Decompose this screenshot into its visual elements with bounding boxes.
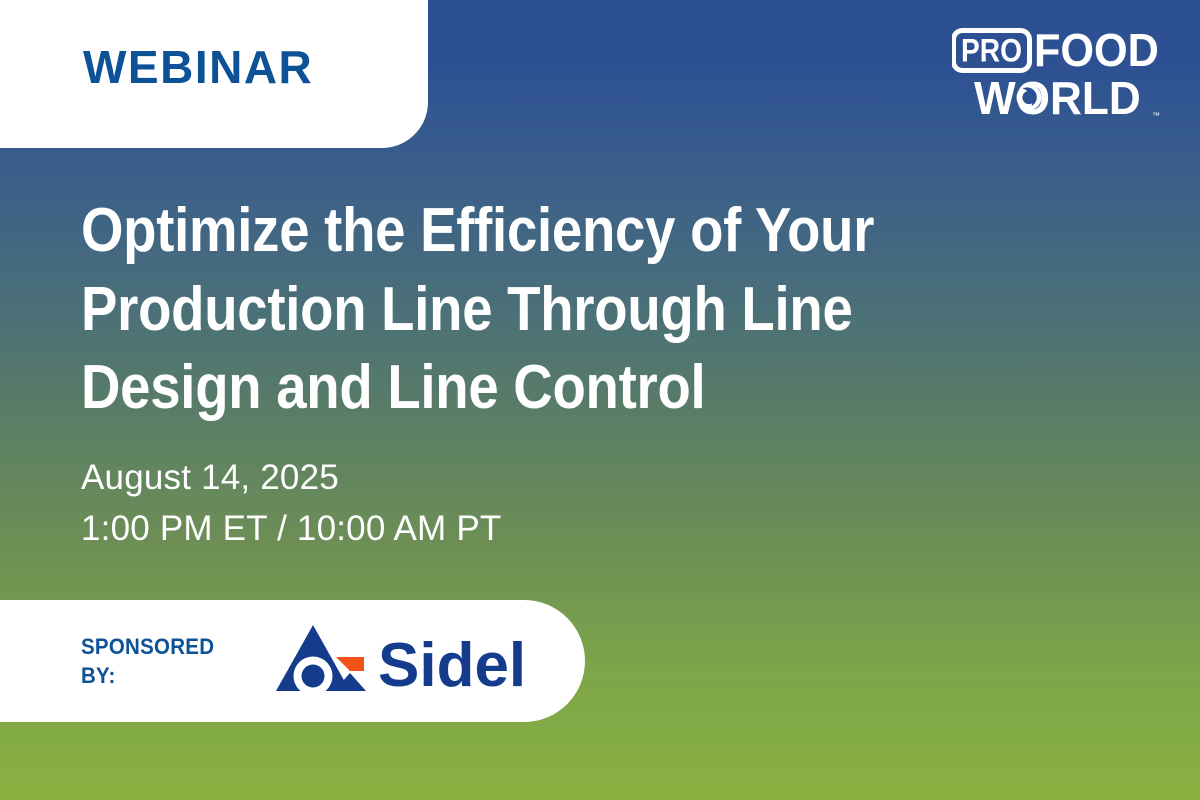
trademark-symbol: ™ xyxy=(1152,111,1160,120)
event-date: August 14, 2025 xyxy=(81,452,501,503)
sponsored-by-label: SPONSORED BY: xyxy=(81,632,214,690)
sidel-triangle-icon xyxy=(276,625,350,696)
sidel-orange-diamond-icon xyxy=(336,657,364,671)
profood-world-logo: PRO FOOD WORLD ™ xyxy=(952,26,1162,122)
webinar-promo-graphic: WEBINAR PRO FOOD WORLD ™ Optimize the Ef… xyxy=(0,0,1200,800)
webinar-badge: WEBINAR xyxy=(0,0,428,148)
sponsor-bar: SPONSORED BY: Sidel xyxy=(0,600,585,722)
sidel-wordmark: Sidel xyxy=(378,631,526,700)
food-text: FOOD xyxy=(1034,26,1159,76)
event-time: 1:00 PM ET / 10:00 AM PT xyxy=(81,503,501,554)
sidel-logo: Sidel xyxy=(272,619,537,703)
world-text: WORLD xyxy=(974,72,1141,122)
event-datetime: August 14, 2025 1:00 PM ET / 10:00 AM PT xyxy=(81,452,501,554)
pro-text: PRO xyxy=(961,34,1022,69)
page-title: Optimize the Efficiency of Your Producti… xyxy=(81,192,908,428)
globe-swoosh-icon xyxy=(1017,85,1042,110)
webinar-badge-label: WEBINAR xyxy=(83,44,313,90)
